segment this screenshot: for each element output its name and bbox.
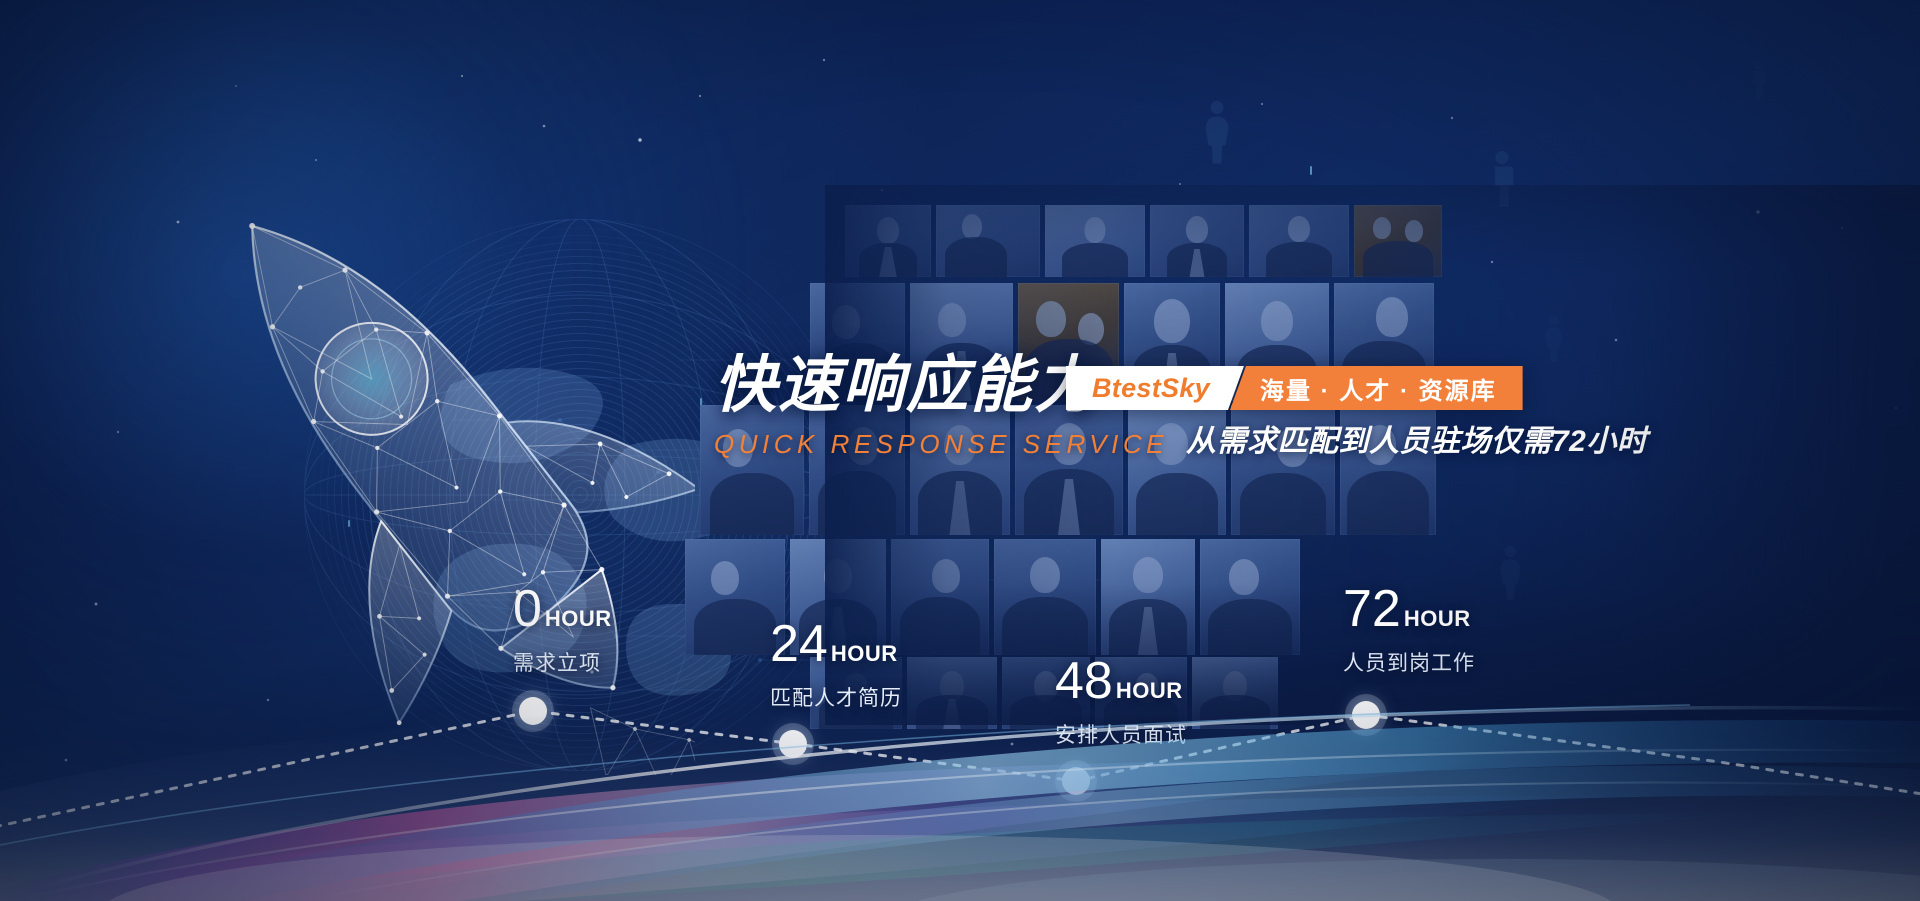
banner-stage: 快速响应能力 QUICK RESPONSE SERVICE 从需求匹配到人员驻场… xyxy=(0,0,1920,901)
vignette-overlay xyxy=(0,0,1920,901)
